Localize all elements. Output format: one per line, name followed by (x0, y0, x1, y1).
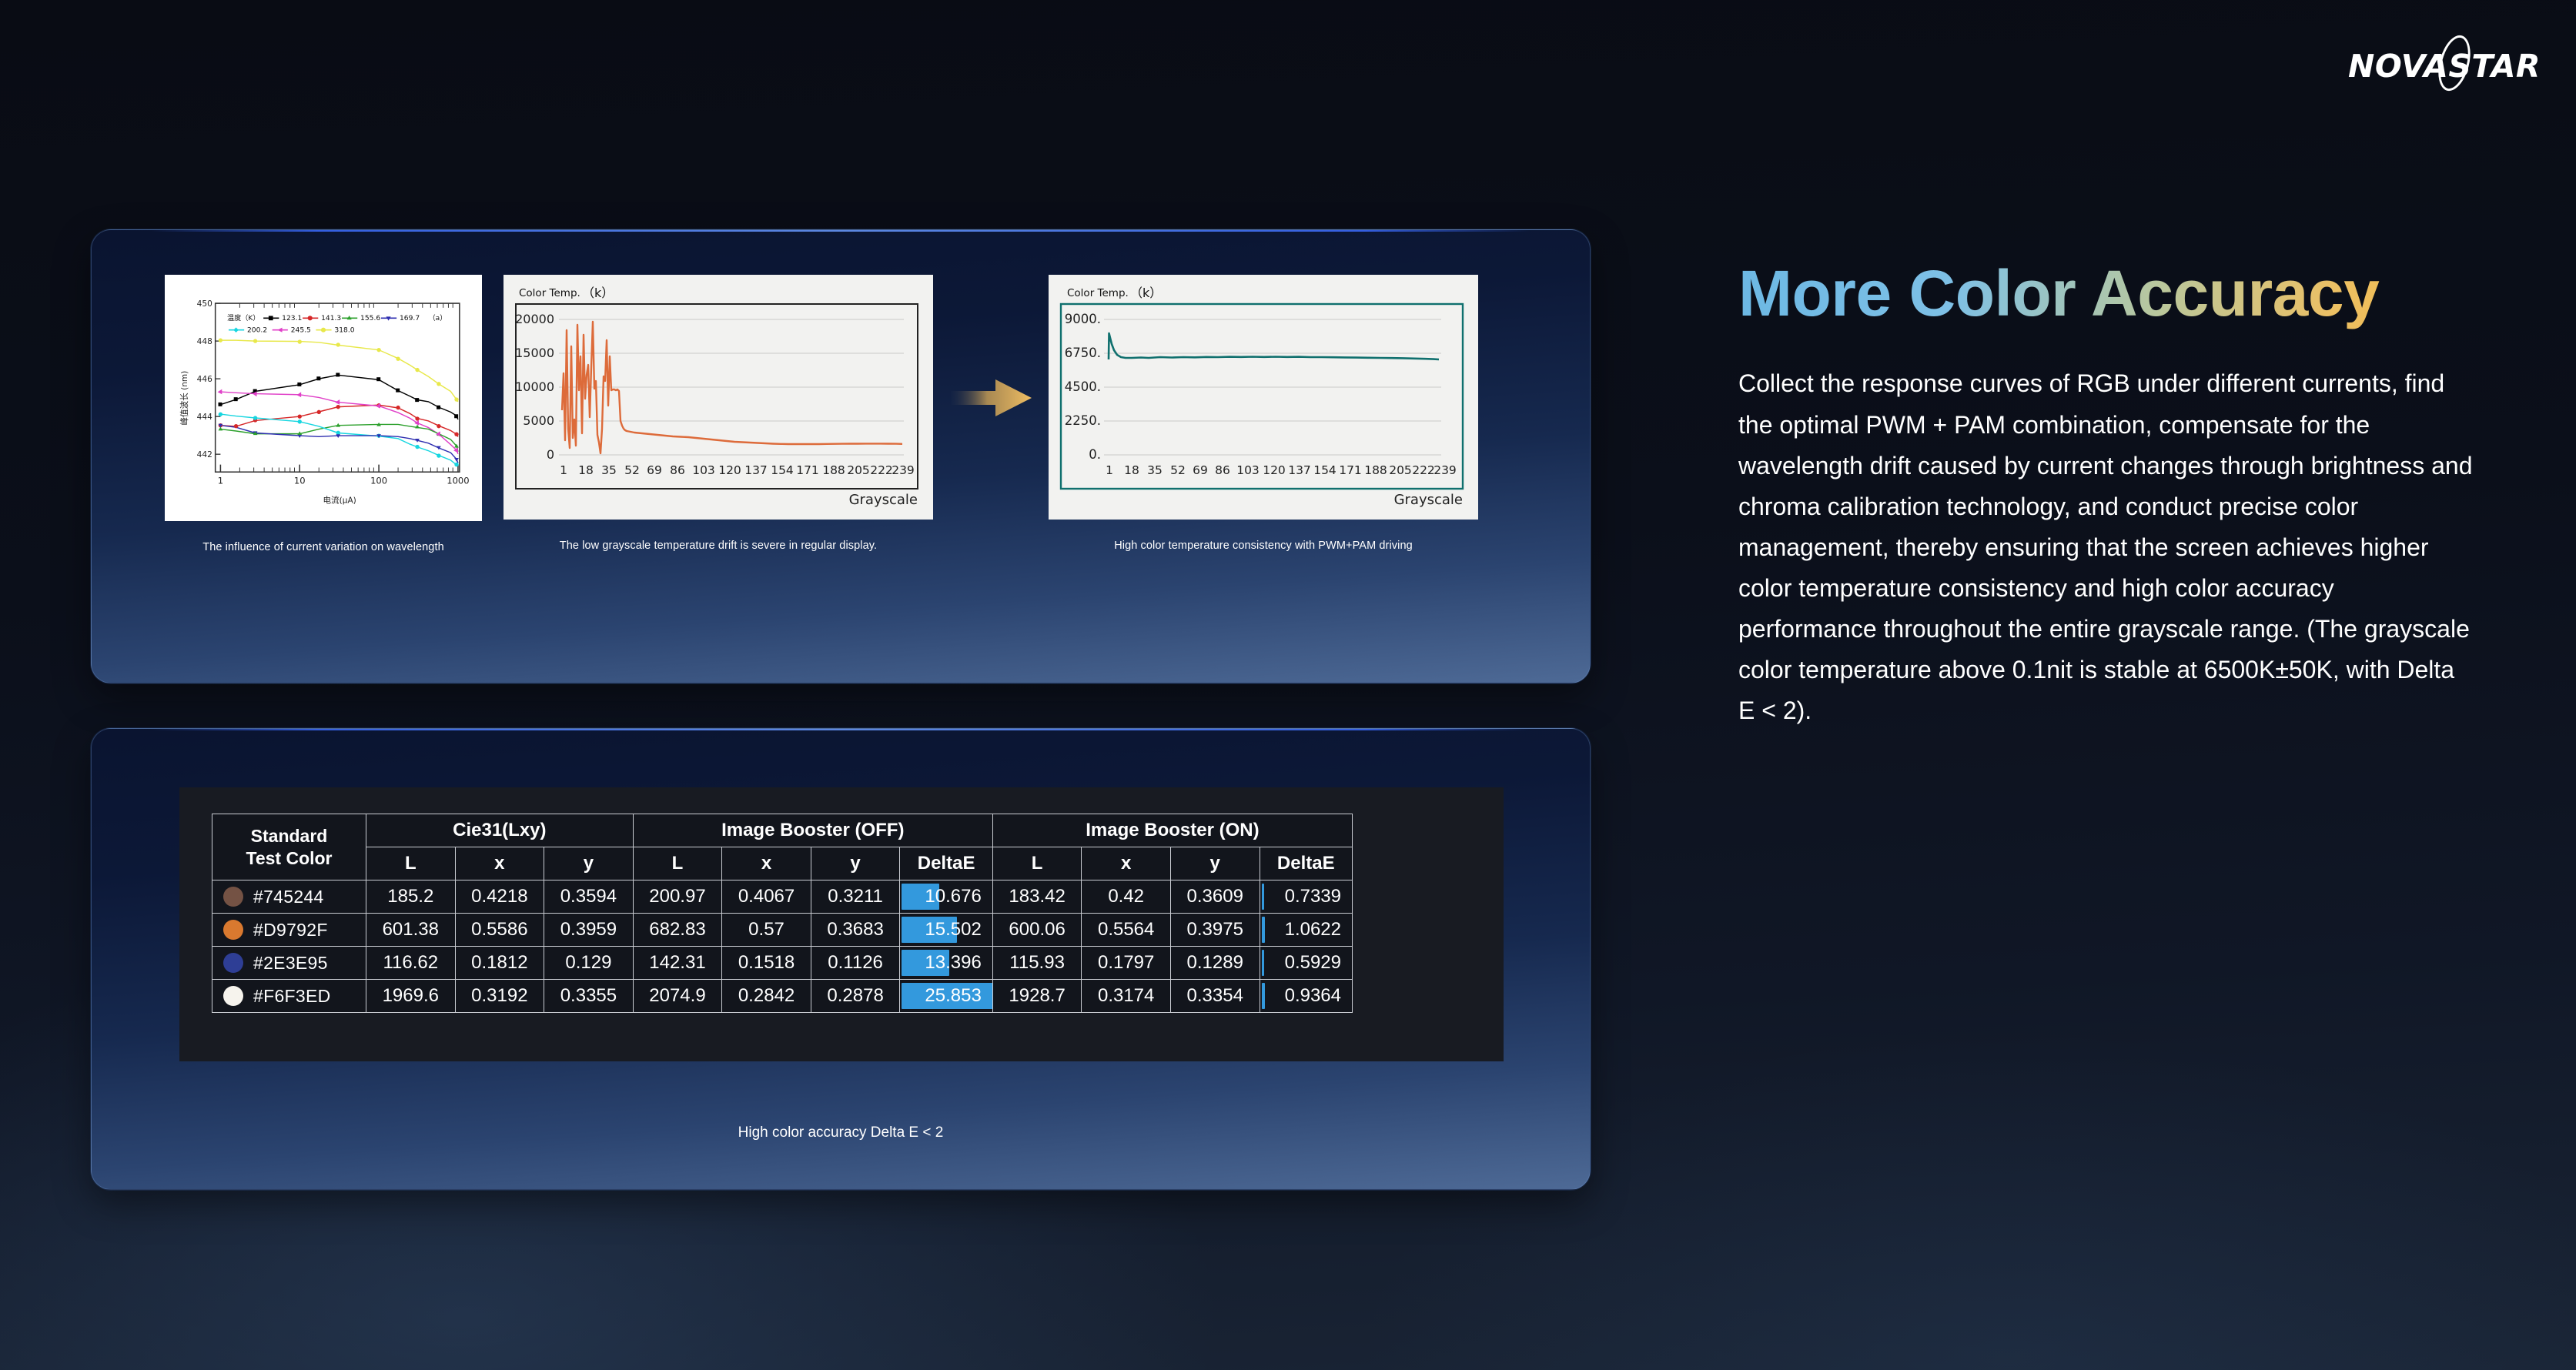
hex-label: #D9792F (253, 920, 328, 941)
svg-text:188: 188 (1364, 463, 1387, 477)
svg-text:18: 18 (578, 463, 594, 477)
cell-off-y: 0.1126 (811, 947, 900, 980)
cell-off-deltae: 13.396 (900, 947, 992, 980)
svg-text:10000: 10000 (515, 379, 554, 394)
svg-text:35: 35 (1147, 463, 1163, 477)
svg-text:171: 171 (1339, 463, 1362, 477)
header-standard-line2: Test Color (246, 848, 332, 868)
svg-text:448: 448 (197, 337, 212, 346)
cell-cie-L: 185.2 (366, 880, 456, 914)
subheader-on-L: L (992, 847, 1082, 880)
svg-text:120: 120 (718, 463, 741, 477)
svg-text:103: 103 (1236, 463, 1260, 477)
subheader-on-y: y (1170, 847, 1260, 880)
svg-text:（k）: （k） (582, 286, 614, 300)
deltae-value: 10.676 (925, 886, 981, 907)
body-paragraph: Collect the response curves of RGB under… (1738, 363, 2477, 731)
cell-cie-y: 0.3355 (544, 980, 634, 1013)
cell-off-L: 200.97 (633, 880, 722, 914)
cell-on-y: 0.3975 (1170, 914, 1260, 947)
svg-text:86: 86 (670, 463, 685, 477)
svg-text:Color Temp.: Color Temp. (519, 287, 580, 299)
svg-text:123.1: 123.1 (282, 315, 302, 322)
wavelength-vs-current-chart: 450 448 446 444 442 (171, 282, 476, 518)
cell-on-x: 0.5564 (1082, 914, 1171, 947)
cell-off-y: 0.3683 (811, 914, 900, 947)
chart-3-screenshot: Color Temp. （k） 9000.6750. 4500.2250.0. (1049, 275, 1478, 520)
svg-text:18: 18 (1124, 463, 1139, 477)
svg-text:200.2: 200.2 (247, 327, 267, 335)
svg-text:137: 137 (1288, 463, 1311, 477)
cell-off-x: 0.1518 (722, 947, 811, 980)
color-swatch-icon (223, 986, 243, 1006)
chart-1-caption: The influence of current variation on wa… (202, 541, 444, 553)
svg-text:35: 35 (601, 463, 617, 477)
table-panel: Standard Test Color Cie31(Lxy) Image Boo… (91, 728, 1591, 1190)
right-content-column: More Color Accuracy Collect the response… (1738, 254, 2501, 731)
table-group-header-row: Standard Test Color Cie31(Lxy) Image Boo… (212, 814, 1353, 847)
cell-off-deltae: 10.676 (900, 880, 992, 914)
color-accuracy-table-screenshot: Standard Test Color Cie31(Lxy) Image Boo… (179, 787, 1504, 1061)
subheader-off-deltae: DeltaE (900, 847, 992, 880)
svg-text:171: 171 (796, 463, 819, 477)
chart-block-wavelength: 450 448 446 444 442 (165, 275, 482, 553)
chart-2-screenshot: Color Temp. （k） 2000015000 1000050000 (503, 275, 933, 520)
svg-text:20000: 20000 (515, 312, 554, 326)
svg-text:4500.: 4500. (1065, 379, 1101, 394)
svg-text:169.7: 169.7 (400, 315, 420, 322)
cell-off-deltae: 15.502 (900, 914, 992, 947)
svg-text:Grayscale: Grayscale (1394, 492, 1463, 508)
header-image-booster-off: Image Booster (OFF) (633, 814, 992, 847)
svg-text:100: 100 (370, 476, 387, 486)
table-row: #F6F3ED1969.60.31920.33552074.90.28420.2… (212, 980, 1353, 1013)
subheader-on-deltae: DeltaE (1260, 847, 1352, 880)
deltae-value: 25.853 (925, 985, 981, 1006)
svg-text:69: 69 (647, 463, 662, 477)
svg-text:Grayscale: Grayscale (849, 492, 918, 508)
svg-text:86: 86 (1215, 463, 1230, 477)
svg-text:69: 69 (1193, 463, 1208, 477)
color-swatch-icon (223, 920, 243, 940)
cell-on-L: 183.42 (992, 880, 1082, 914)
table-row: #D9792F601.380.55860.3959682.830.570.368… (212, 914, 1353, 947)
cell-off-x: 0.2842 (722, 980, 811, 1013)
svg-text:（k）: （k） (1130, 286, 1162, 300)
svg-text:205: 205 (1389, 463, 1412, 477)
deltae-value: 1.0622 (1285, 919, 1341, 940)
svg-text:120: 120 (1263, 463, 1286, 477)
cell-cie-y: 0.3594 (544, 880, 634, 914)
cell-off-y: 0.2878 (811, 980, 900, 1013)
svg-text:222: 222 (1412, 463, 1435, 477)
deltae-value: 15.502 (925, 919, 981, 940)
svg-text:52: 52 (1170, 463, 1186, 477)
cell-off-x: 0.4067 (722, 880, 811, 914)
cell-on-L: 1928.7 (992, 980, 1082, 1013)
cell-off-x: 0.57 (722, 914, 811, 947)
svg-text:1000: 1000 (447, 476, 469, 486)
standard-test-color-cell: #F6F3ED (212, 980, 366, 1013)
subheader-cie-L: L (366, 847, 456, 880)
table-body: #745244185.20.42180.3594200.970.40670.32… (212, 880, 1353, 1013)
svg-text:239: 239 (892, 463, 915, 477)
deltae-data-bar (1262, 950, 1264, 976)
brand-logo: NOVASTAR (2348, 48, 2541, 85)
svg-text:电流(μA): 电流(μA) (323, 496, 356, 506)
header-standard-test-color: Standard Test Color (212, 814, 366, 880)
chart-block-colortemp-on: Color Temp. （k） 9000.6750. 4500.2250.0. (1049, 275, 1478, 552)
standard-test-color-cell: #745244 (212, 880, 366, 914)
cell-off-y: 0.3211 (811, 880, 900, 914)
right-arrow-icon (951, 376, 1032, 419)
svg-text:1: 1 (560, 463, 567, 477)
svg-text:0: 0 (547, 447, 554, 462)
cell-on-deltae: 1.0622 (1260, 914, 1352, 947)
transition-arrow (933, 275, 1049, 521)
cell-on-deltae: 0.7339 (1260, 880, 1352, 914)
cell-cie-y: 0.3959 (544, 914, 634, 947)
svg-text:Color Temp.: Color Temp. (1067, 287, 1129, 299)
table-sub-header-row: L x y L x y DeltaE L x y DeltaE (212, 847, 1353, 880)
cell-on-L: 115.93 (992, 947, 1082, 980)
hex-label: #745244 (253, 887, 324, 907)
svg-text:154: 154 (771, 463, 794, 477)
cell-on-deltae: 0.9364 (1260, 980, 1352, 1013)
svg-text:52: 52 (624, 463, 640, 477)
deltae-value: 0.5929 (1285, 952, 1341, 973)
deltae-data-bar (1262, 983, 1265, 1009)
cell-off-L: 682.83 (633, 914, 722, 947)
cell-cie-y: 0.129 (544, 947, 634, 980)
svg-text:444: 444 (197, 413, 212, 422)
svg-text:239: 239 (1434, 463, 1457, 477)
svg-text:137: 137 (744, 463, 768, 477)
cell-cie-x: 0.1812 (455, 947, 544, 980)
charts-row: 450 448 446 444 442 (92, 230, 1590, 553)
hex-label: #2E3E95 (253, 953, 328, 974)
page-title: More Color Accuracy (1738, 254, 2501, 332)
svg-text:峰值波长 (nm): 峰值波长 (nm) (179, 371, 189, 426)
svg-text:1: 1 (218, 476, 223, 486)
header-image-booster-on: Image Booster (ON) (992, 814, 1352, 847)
svg-text:（a）: （a） (428, 314, 447, 322)
svg-text:205: 205 (847, 463, 870, 477)
cell-off-deltae: 25.853 (900, 980, 992, 1013)
cell-cie-L: 601.38 (366, 914, 456, 947)
chart-3-caption: High color temperature consistency with … (1114, 540, 1413, 552)
chart-1-screenshot: 450 448 446 444 442 (165, 275, 482, 521)
color-swatch-icon (223, 953, 243, 973)
cell-cie-x: 0.5586 (455, 914, 544, 947)
header-standard-line1: Standard (251, 826, 328, 846)
left-content-column: 450 448 446 444 442 (91, 229, 1591, 1190)
subheader-off-x: x (722, 847, 811, 880)
table-row: #745244185.20.42180.3594200.970.40670.32… (212, 880, 1353, 914)
deltae-value: 0.7339 (1285, 886, 1341, 907)
svg-text:155.6: 155.6 (360, 315, 380, 322)
cell-on-y: 0.3354 (1170, 980, 1260, 1013)
charts-panel: 450 448 446 444 442 (91, 229, 1591, 683)
cell-on-x: 0.42 (1082, 880, 1171, 914)
color-temp-pwmpam-chart: Color Temp. （k） 9000.6750. 4500.2250.0. (1056, 282, 1467, 513)
svg-text:141.3: 141.3 (321, 315, 341, 322)
cell-cie-L: 1969.6 (366, 980, 456, 1013)
svg-text:1: 1 (1106, 463, 1113, 477)
color-accuracy-table: Standard Test Color Cie31(Lxy) Image Boo… (212, 814, 1353, 1013)
deltae-data-bar (1262, 917, 1266, 943)
novastar-ellipse-icon (2433, 32, 2476, 94)
subheader-off-y: y (811, 847, 900, 880)
subheader-off-L: L (633, 847, 722, 880)
svg-text:2250.: 2250. (1065, 413, 1101, 428)
svg-text:245.5: 245.5 (291, 327, 311, 335)
svg-text:10: 10 (294, 476, 306, 486)
cell-on-deltae: 0.5929 (1260, 947, 1352, 980)
header-cie31: Cie31(Lxy) (366, 814, 634, 847)
svg-text:0.: 0. (1089, 447, 1101, 462)
svg-text:154: 154 (1313, 463, 1337, 477)
subheader-on-x: x (1082, 847, 1171, 880)
svg-text:15000: 15000 (515, 346, 554, 360)
svg-text:450: 450 (197, 299, 212, 309)
table-row: #2E3E95116.620.18120.129142.310.15180.11… (212, 947, 1353, 980)
cell-on-x: 0.1797 (1082, 947, 1171, 980)
svg-text:188: 188 (822, 463, 845, 477)
subheader-cie-y: y (544, 847, 634, 880)
deltae-value: 0.9364 (1285, 985, 1341, 1006)
cell-off-L: 2074.9 (633, 980, 722, 1013)
cell-on-x: 0.3174 (1082, 980, 1171, 1013)
svg-text:222: 222 (870, 463, 893, 477)
svg-text:6750.: 6750. (1065, 346, 1101, 360)
chart-2-caption: The low grayscale temperature drift is s… (560, 540, 877, 552)
color-temp-regular-chart: Color Temp. （k） 2000015000 1000050000 (511, 282, 922, 513)
svg-text:5000: 5000 (523, 413, 554, 428)
color-swatch-icon (223, 887, 243, 907)
chart-block-colortemp-off: Color Temp. （k） 2000015000 1000050000 (503, 275, 933, 552)
table-caption: High color accuracy Delta E < 2 (92, 1124, 1590, 1141)
cell-on-y: 0.3609 (1170, 880, 1260, 914)
svg-text:9000.: 9000. (1065, 312, 1101, 326)
deltae-value: 13.396 (925, 952, 981, 973)
subheader-cie-x: x (455, 847, 544, 880)
svg-text:103: 103 (692, 463, 715, 477)
cell-cie-L: 116.62 (366, 947, 456, 980)
cell-cie-x: 0.3192 (455, 980, 544, 1013)
standard-test-color-cell: #D9792F (212, 914, 366, 947)
deltae-data-bar (1262, 884, 1264, 910)
svg-text:318.0: 318.0 (334, 327, 354, 335)
cell-cie-x: 0.4218 (455, 880, 544, 914)
cell-off-L: 142.31 (633, 947, 722, 980)
cell-on-y: 0.1289 (1170, 947, 1260, 980)
standard-test-color-cell: #2E3E95 (212, 947, 366, 980)
svg-text:442: 442 (197, 450, 212, 459)
cell-on-L: 600.06 (992, 914, 1082, 947)
hex-label: #F6F3ED (253, 986, 331, 1007)
svg-text:温度（K）: 温度（K） (227, 313, 259, 322)
svg-text:446: 446 (197, 375, 212, 384)
